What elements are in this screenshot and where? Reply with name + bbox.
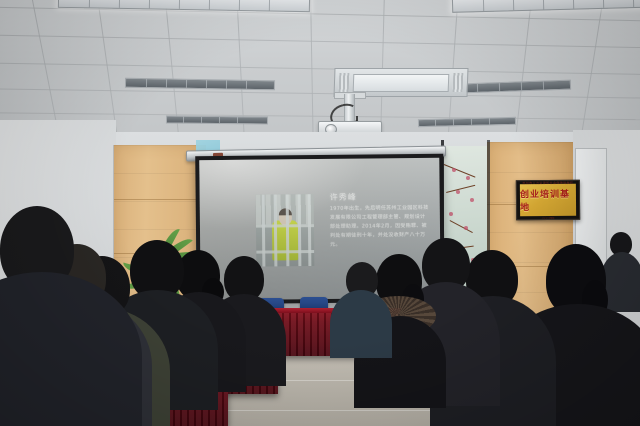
attendee-presenter-seat	[330, 262, 390, 352]
wall-plaque: 苏州市人力资源和社会保障局授权 创业培训基地 二〇一四年	[516, 180, 580, 221]
plaque-bottom-line: 二〇一四年	[542, 215, 555, 219]
classroom-photo: 苏州市人力资源和社会保障局授权 创业培训基地 二〇一四年	[0, 0, 640, 426]
recessed-fluorescent-light	[452, 0, 640, 13]
recessed-fluorescent-light	[125, 78, 275, 91]
plaque-top-line: 苏州市人力资源和社会保障局授权	[522, 180, 573, 184]
recessed-fluorescent-light	[418, 117, 516, 127]
plaque-main-text: 创业培训基地	[520, 186, 576, 212]
attendee-left-foreground	[0, 206, 116, 426]
recessed-fluorescent-light	[166, 115, 268, 124]
